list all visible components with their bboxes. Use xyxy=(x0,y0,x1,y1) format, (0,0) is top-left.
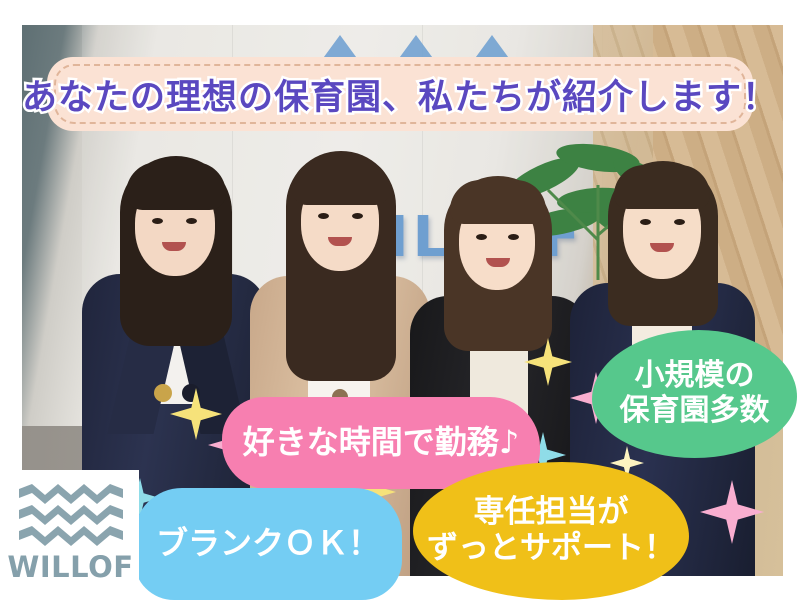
willof-logo-card: WILLOF xyxy=(2,470,139,598)
bubble-small-nursery: 小規模の 保育園多数 xyxy=(592,330,797,458)
zigzag-wave-icon xyxy=(19,484,123,546)
bubble-line-2: ずっとサポート！ xyxy=(427,531,675,567)
logo-wordmark: WILLOF xyxy=(7,550,133,584)
bubble-blank-ok: ブランクＯＫ！ xyxy=(134,488,402,600)
bubble-line-1: 好きな時間で勤務♪ xyxy=(243,424,519,461)
advertisement-banner: WILLOF xyxy=(0,0,800,600)
banner-headline: あなたの理想の保育園、私たちが紹介します！ xyxy=(47,57,753,131)
header-banner: あなたの理想の保育園、私たちが紹介します！ xyxy=(47,57,753,131)
bubble-dedicated-support: 専任担当が ずっとサポート！ xyxy=(413,462,689,600)
bubble-line-2: 保育園多数 xyxy=(620,394,770,429)
bubble-line-1: 専任担当が xyxy=(474,494,629,530)
bubble-line-1: ブランクＯＫ！ xyxy=(156,525,380,562)
bubble-line-1: 小規模の xyxy=(635,358,755,393)
